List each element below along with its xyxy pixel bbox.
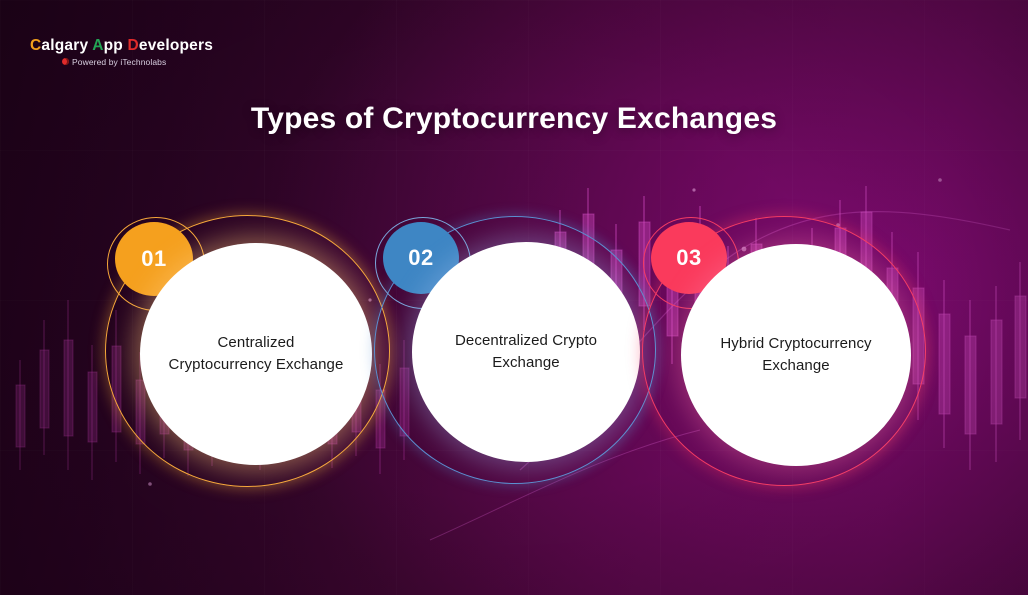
brand-initial-a: A xyxy=(92,37,103,54)
page-title: Types of Cryptocurrency Exchanges xyxy=(0,102,1028,136)
brand-text-algary: algary xyxy=(41,37,92,54)
item-label-2: Decentralized Crypto Exchange xyxy=(412,330,640,374)
brand-initial-c: C xyxy=(30,37,41,54)
brand-logo[interactable]: Calgary App Developers Powered by iTechn… xyxy=(30,38,210,66)
brand-text-evelopers: evelopers xyxy=(139,37,213,54)
circle-card-1[interactable]: Centralized Cryptocurrency Exchange xyxy=(140,243,372,465)
circle-card-2[interactable]: Decentralized Crypto Exchange xyxy=(412,242,640,462)
item-label-3: Hybrid Cryptocurrency Exchange xyxy=(681,333,911,377)
exchange-types-list: 01 Centralized Cryptocurrency Exchange 0… xyxy=(0,0,1028,595)
itechnolabs-dot-icon xyxy=(62,58,69,65)
infographic-canvas: Calgary App Developers Powered by iTechn… xyxy=(0,0,1028,595)
brand-tagline: Powered by iTechnolabs xyxy=(72,58,166,67)
brand-name: Calgary App Developers xyxy=(30,38,210,54)
brand-initial-d: D xyxy=(127,37,138,54)
circle-card-3[interactable]: Hybrid Cryptocurrency Exchange xyxy=(681,244,911,466)
brand-tagline-row: Powered by iTechnolabs xyxy=(30,58,210,67)
item-label-1: Centralized Cryptocurrency Exchange xyxy=(140,332,372,376)
brand-text-pp: pp xyxy=(104,37,128,54)
